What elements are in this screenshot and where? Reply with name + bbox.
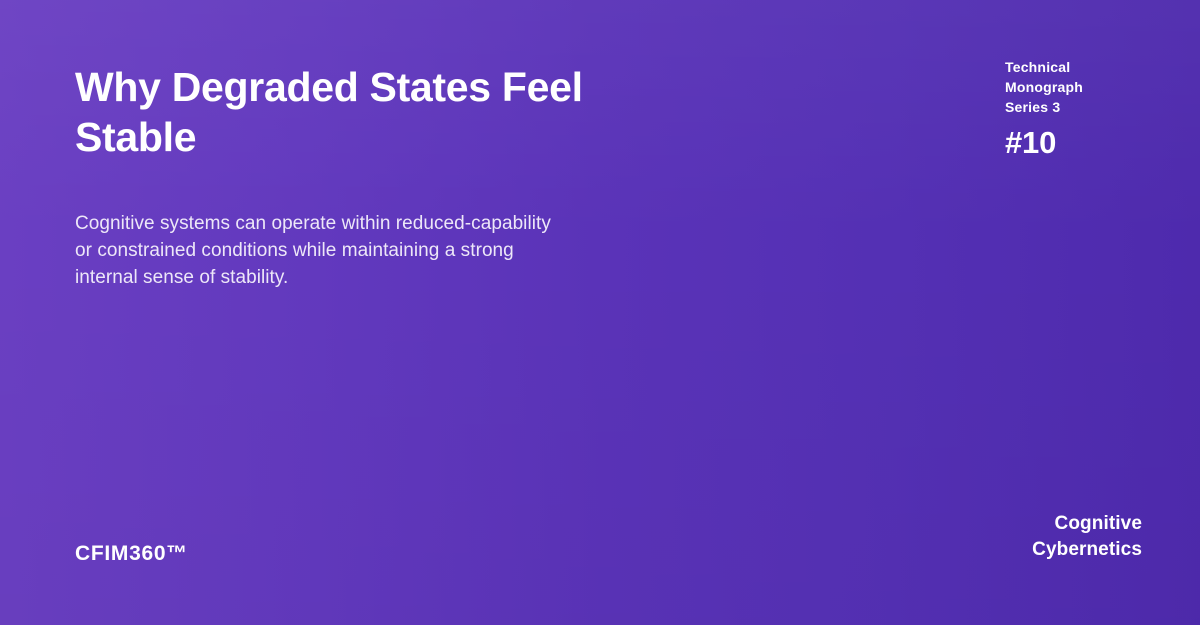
footer-left: CFIM360™: [75, 541, 188, 567]
headline-block: Why Degraded States Feel Stable Cognitiv…: [75, 62, 695, 291]
series-badge: Technical Monograph Series 3 #10: [1005, 57, 1165, 161]
page-subtitle: Cognitive systems can operate within red…: [75, 162, 695, 291]
title-card: Why Degraded States Feel Stable Cognitiv…: [0, 0, 1200, 625]
series-label: Technical Monograph Series 3: [1005, 57, 1165, 117]
brand-wordmark: CFIM360™: [75, 541, 188, 567]
page-title: Why Degraded States Feel Stable: [75, 62, 695, 162]
series-number: #10: [1005, 117, 1165, 161]
division-name: Cognitive Cybernetics: [1032, 511, 1142, 563]
footer-right: Cognitive Cybernetics: [1032, 511, 1142, 563]
